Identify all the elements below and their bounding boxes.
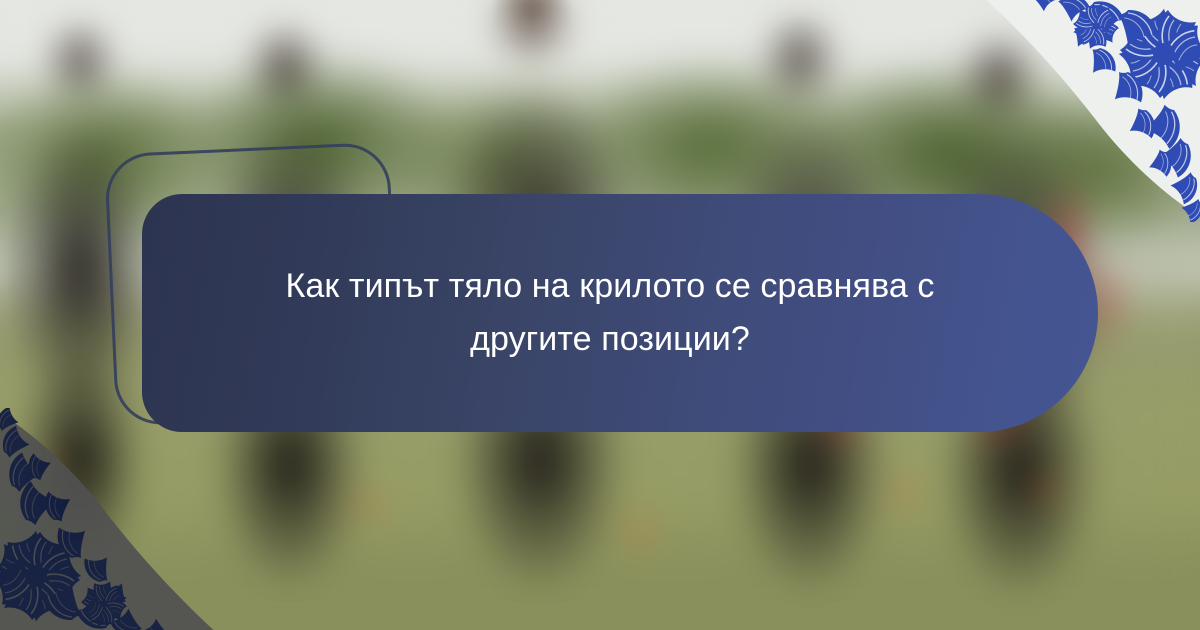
headline-card: Как типът тяло на крилото се сравнява с … (142, 194, 1098, 432)
page-title: Как типът тяло на крилото се сравнява с … (212, 260, 1008, 366)
social-card-canvas: Как типът тяло на крилото се сравнява с … (0, 0, 1200, 630)
